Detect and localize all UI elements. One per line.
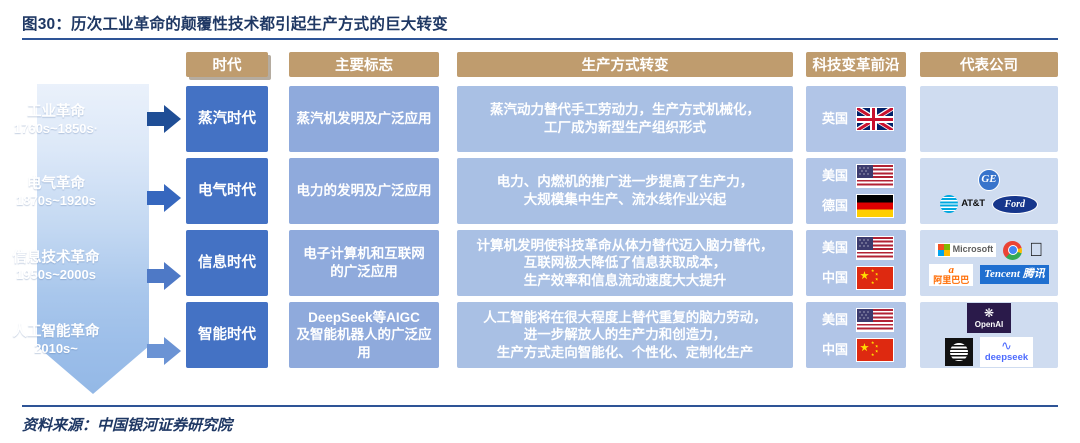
source-divider: [22, 405, 1058, 407]
country-row: 德国: [818, 191, 894, 221]
country-row: 中国: [818, 335, 894, 365]
title-divider: [22, 38, 1058, 40]
column-header-frontier: 科技变革前沿: [806, 52, 906, 77]
us-flag-icon: [856, 308, 894, 332]
country-row: 美国: [818, 161, 894, 191]
companies-cell-2: Microsoft  a 阿里巴巴 Tencent 腾讯: [920, 230, 1058, 296]
cn-flag-icon: [856, 266, 894, 290]
deepseek-logo-icon: ∿ deepseek: [980, 337, 1033, 366]
country-row: 中国: [818, 263, 894, 293]
companies-cell-0: [920, 86, 1058, 152]
column-header-mark: 主要标志: [289, 52, 439, 77]
country-row: 美国: [818, 305, 894, 335]
companies-cell-1: GE AT&T Ford: [920, 158, 1058, 224]
country-row: 英国: [818, 104, 894, 134]
frontier-cell-3: 美国 中国: [806, 302, 906, 368]
revolution-label-3: 人工智能革命 2010s~: [0, 324, 118, 356]
era-cell-0: 蒸汽时代: [186, 86, 268, 152]
apple-logo-icon: : [1029, 241, 1043, 260]
revolution-label-0: 工业革命 1760s~1850s·: [0, 104, 118, 136]
cn-flag-icon: [856, 338, 894, 362]
page-title: 图30：历次工业革命的颠覆性技术都引起生产方式的巨大转变: [22, 12, 448, 34]
row-arrow-icon-0: [147, 105, 181, 133]
us-flag-icon: [856, 236, 894, 260]
ford-logo-icon: Ford: [992, 195, 1038, 214]
country-row: 美国: [818, 233, 894, 263]
mark-cell-2: 电子计算机和互联网 的广泛应用: [289, 230, 439, 296]
production-cell-1: 电力、内燃机的推广进一步提高了生产力， 大规模集中生产、流水线作业兴起: [457, 158, 793, 224]
era-cell-1: 电气时代: [186, 158, 268, 224]
moonshot-logo-icon: [945, 338, 973, 366]
column-header-production: 生产方式转变: [457, 52, 793, 77]
companies-cell-3: ❋ OpenAI ∿ deepseek: [920, 302, 1058, 368]
production-cell-3: 人工智能将在很大程度上替代重复的脑力劳动， 进一步解放人的生产力和创造力， 生产…: [457, 302, 793, 368]
chrome-logo-icon: [1003, 241, 1022, 260]
mark-cell-1: 电力的发明及广泛应用: [289, 158, 439, 224]
era-cell-2: 信息时代: [186, 230, 268, 296]
mark-cell-3: DeepSeek等AIGC 及智能机器人的广泛应用: [289, 302, 439, 368]
column-header-era: 时代: [186, 52, 268, 77]
row-arrow-icon-2: [147, 262, 181, 290]
ge-logo-icon: GE: [978, 169, 1000, 191]
microsoft-logo-icon: Microsoft: [935, 243, 997, 257]
row-arrow-icon-1: [147, 184, 181, 212]
frontier-cell-1: 美国 德国: [806, 158, 906, 224]
de-flag-icon: [856, 194, 894, 218]
frontier-cell-2: 美国 中国: [806, 230, 906, 296]
mark-cell-0: 蒸汽机发明及广泛应用: [289, 86, 439, 152]
production-cell-0: 蒸汽动力替代手工劳动力，生产方式机械化， 工厂成为新型生产组织形式: [457, 86, 793, 152]
revolution-label-2: 信息技术革命 1950s~2000s: [0, 250, 118, 282]
figure-container: 图30：历次工业革命的颠覆性技术都引起生产方式的巨大转变 时代 主要标志 生产方…: [0, 0, 1080, 443]
frontier-cell-0: 英国: [806, 86, 906, 152]
production-cell-2: 计算机发明使科技革命从体力替代迈入脑力替代， 互联网极大降低了信息获取成本， 生…: [457, 230, 793, 296]
row-arrow-icon-3: [147, 337, 181, 365]
alibaba-logo-icon: a 阿里巴巴: [929, 264, 973, 286]
revolution-label-1: 电气革命 1870s~1920s: [0, 176, 118, 208]
era-cell-3: 智能时代: [186, 302, 268, 368]
source-note: 资料来源：中国银河证券研究院: [22, 414, 232, 435]
att-logo-icon: AT&T: [940, 195, 984, 213]
uk-flag-icon: [856, 107, 894, 131]
column-header-companies: 代表公司: [920, 52, 1058, 77]
us-flag-icon: [856, 164, 894, 188]
openai-logo-icon: ❋ OpenAI: [967, 303, 1011, 333]
tencent-logo-icon: Tencent 腾讯: [980, 265, 1048, 283]
